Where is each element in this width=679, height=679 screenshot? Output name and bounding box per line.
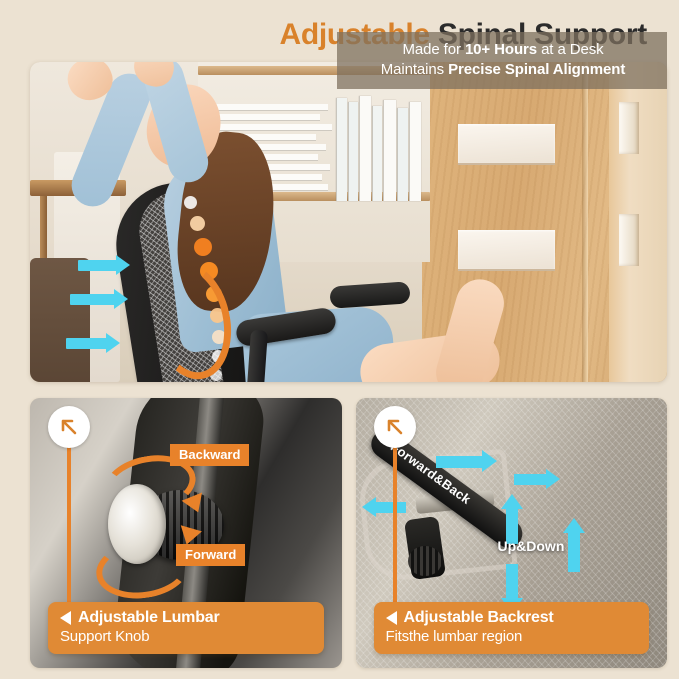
dark-door: [30, 258, 90, 382]
label-up-down: Up&Down: [498, 538, 565, 554]
backrest-knob: [408, 546, 442, 576]
callout-backrest-title: Adjustable Backrest: [404, 609, 554, 627]
banner-line-1: Made for 10+ Hours at a Desk: [351, 40, 655, 60]
tag-backward: Backward: [170, 444, 249, 466]
panel-backrest[interactable]: Forward&Back: [356, 398, 668, 668]
tag-forward: Forward: [176, 544, 245, 566]
panel-connector-line: [67, 442, 71, 610]
triangle-left-icon: [386, 611, 397, 625]
banner-line-2: Maintains Precise Spinal Alignment: [351, 60, 655, 80]
callout-lumbar: Adjustable Lumbar Support Knob: [48, 602, 324, 654]
panel-lumbar-knob[interactable]: Backward Forward Adjustable Lumbar Suppo…: [30, 398, 342, 668]
arrow-up-left-icon: [374, 406, 416, 448]
callout-lumbar-title: Adjustable Lumbar: [78, 609, 220, 627]
callout-lumbar-sub: Support Knob: [60, 628, 314, 645]
triangle-left-icon: [60, 611, 71, 625]
arrow-up-left-icon: [48, 406, 90, 448]
callout-backrest-sub: Fitsthe lumbar region: [386, 628, 640, 645]
panel-connector-line: [393, 442, 397, 610]
callout-backrest: Adjustable Backrest Fitsthe lumbar regio…: [374, 602, 650, 654]
feature-banner: Made for 10+ Hours at a Desk Maintains P…: [337, 32, 667, 89]
detail-panels: Backward Forward Adjustable Lumbar Suppo…: [30, 398, 667, 668]
hero-photo: [30, 62, 667, 382]
infographic-root: Adjustable Spinal Support: [0, 0, 679, 679]
